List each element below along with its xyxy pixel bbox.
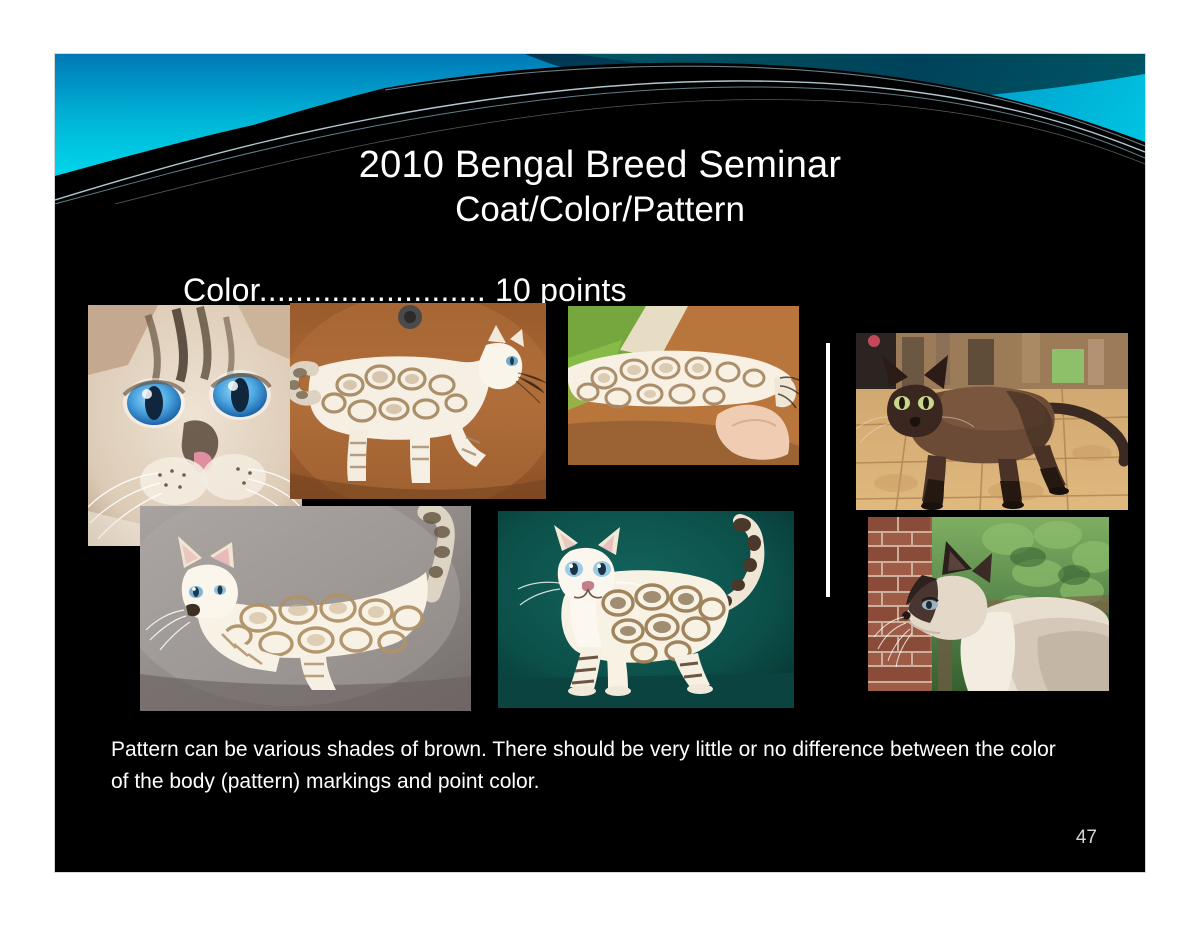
header-swoosh-graphic [55, 54, 1145, 204]
photo-snow-bengal-kitten-gray-backdrop [140, 506, 471, 711]
presentation-slide: 2010 Bengal Breed Seminar Coat/Color/Pat… [55, 54, 1145, 872]
section-divider [826, 343, 830, 597]
photo-snow-bengal-studio-teal-backdrop [498, 511, 794, 708]
incorrect-siamese-art [868, 517, 1109, 691]
page-root: 2010 Bengal Breed Seminar Coat/Color/Pat… [0, 0, 1200, 927]
photo-snow-bengal-walking-brown-floor [290, 303, 546, 499]
photo-snow-bengal-held-in-hand [568, 306, 799, 465]
snow-bengal-walking-art [290, 303, 546, 499]
header-swoosh-banner [55, 54, 1145, 204]
snow-bengal-kitten-art [140, 506, 471, 711]
photo-incorrect-siamese-profile-brick-wall [868, 517, 1109, 691]
photo-incorrect-dark-seal-point-cat-tile-floor [856, 333, 1128, 510]
incorrect-dark-cat-art [856, 333, 1128, 510]
slide-caption: Pattern can be various shades of brown. … [111, 734, 1061, 798]
snow-bengal-in-hand-art [568, 306, 799, 465]
snow-bengal-studio-art [498, 511, 794, 708]
slide-page-number: 47 [1076, 826, 1097, 850]
